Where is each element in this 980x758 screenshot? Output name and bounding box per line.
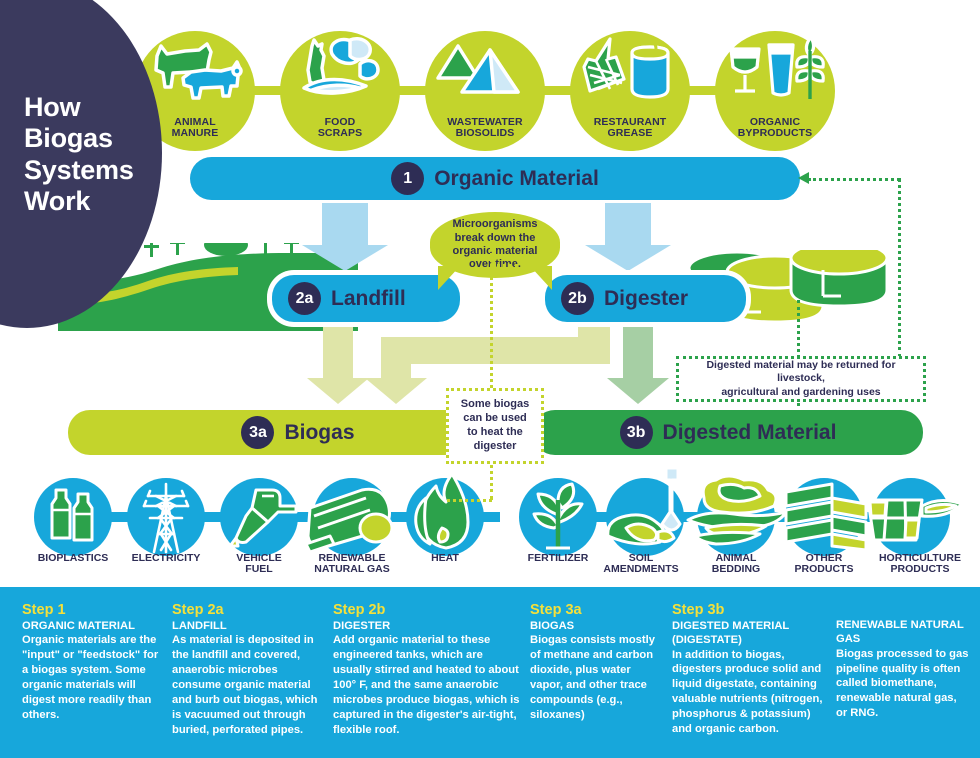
stage-number-2a: 2a [288,282,321,315]
output-label-heat: HEAT [393,553,497,564]
step-subtitle: BIOGAS [530,619,658,633]
stage-bar-digested-material[interactable]: 3b Digested Material [533,410,923,455]
return-line-horizontal-top [808,178,900,181]
step-body: Organic materials are the "input" or "fe… [22,633,162,722]
output-circle-electricity[interactable] [127,478,205,556]
return-arrow-head [798,172,809,184]
output-circle-vehicle-fuel[interactable] [220,478,298,556]
output-label-soil-amendments: SOIL AMENDMENTS [589,553,693,576]
step-body: As material is deposited in the landfill… [172,633,320,737]
output-label-renewable-natural-gas: RENEWABLE NATURAL GAS [300,553,404,576]
input-label-organic-byproducts: ORGANIC BYPRODUCTS [710,117,840,139]
output-circle-soil-amendments[interactable] [606,478,684,556]
output-label-other-products: OTHER PRODUCTS [772,553,876,576]
callout-return-digestate: Digested material may be returned for li… [676,356,926,402]
step-body: Biogas consists mostly of methane and ca… [530,633,658,722]
steps-panel: Step 1 ORGANIC MATERIAL Organic material… [0,583,980,758]
output-label-bioplastics: BIOPLASTICS [21,553,125,564]
arrow-digester-to-biogas [358,337,434,404]
step-column-3a: Step 3a BIOGAS Biogas consists mostly of… [530,603,658,723]
stage-label-digester: Digester [604,287,688,311]
step-subtitle: DIGESTED MATERIAL (DIGESTATE) [672,619,824,648]
output-label-electricity: ELECTRICITY [114,553,218,564]
arrow-organic-to-landfill [302,203,388,271]
stage-label-biogas: Biogas [284,421,354,445]
stage-number-2b: 2b [561,282,594,315]
input-label-restaurant-grease: RESTAURANT GREASE [565,117,695,139]
input-label-wastewater-biosolids: WASTEWATER BIOSOLIDS [420,117,550,139]
step-column-rng: RENEWABLE NATURAL GAS Biogas processed t… [836,618,970,721]
arrow-organic-to-digester [585,203,671,271]
stage-number-3b: 3b [620,416,653,449]
heat-line-horizontal-lower [447,499,492,502]
output-circle-renewable-natural-gas[interactable] [313,478,391,556]
step-subtitle: RENEWABLE NATURAL GAS [836,618,970,647]
step-column-2a: Step 2a LANDFILL As material is deposite… [172,603,320,738]
input-label-food-scraps: FOOD SCRAPS [275,117,405,139]
step-body: Biogas processed to gas pipeline quality… [836,647,970,721]
arrow-digester-to-digested [600,322,676,404]
stage-bar-organic-material[interactable]: 1 Organic Material [190,157,800,200]
page-title: How Biogas Systems Work [24,92,154,217]
output-label-horticulture-products: HORTICULTURE PRODUCTS [868,553,972,576]
step-heading: Step 3b [672,603,824,619]
output-label-vehicle-fuel: VEHICLE FUEL [207,553,311,576]
output-circle-horticulture-products[interactable] [872,478,950,556]
step-subtitle: DIGESTER [333,619,521,633]
stage-number-3a: 3a [241,416,274,449]
output-circle-fertilizer[interactable] [519,478,597,556]
stage-label-organic-material: Organic Material [434,167,599,191]
stage-label-landfill: Landfill [331,287,406,311]
stage-bar-digester[interactable]: 2b Digester [545,275,746,322]
output-circle-other-products[interactable] [785,478,863,556]
heat-line-vertical-upper [490,240,493,388]
step-subtitle: LANDFILL [172,619,320,633]
stage-label-digested-material: Digested Material [663,421,837,445]
step-heading: Step 3a [530,603,658,619]
heat-arrow-head [536,258,547,270]
output-circle-bioplastics[interactable] [34,478,112,556]
step-column-2b: Step 2b DIGESTER Add organic material to… [333,603,521,738]
step-body: In addition to biogas, digesters produce… [672,648,824,737]
heat-line-horizontal-to-digester [490,264,538,267]
return-line-vertical-mid [797,300,800,358]
output-circle-animal-bedding[interactable] [697,478,775,556]
callout-heat-digester: Some biogas can be used to heat the dige… [446,388,544,464]
step-column-1: Step 1 ORGANIC MATERIAL Organic material… [22,603,162,723]
step-heading: Step 1 [22,603,162,619]
stage-bar-landfill[interactable]: 2a Landfill [272,275,460,322]
return-line-vertical-right [898,178,901,358]
step-column-3b: Step 3b DIGESTED MATERIAL (DIGESTATE) In… [672,603,824,737]
step-body: Add organic material to these engineered… [333,633,521,737]
stage-number-1: 1 [391,162,424,195]
step-heading: Step 2a [172,603,320,619]
step-heading: Step 2b [333,603,521,619]
infographic-canvas: ANIMAL MANURE FOOD SCRAPS [0,0,980,758]
output-circle-heat[interactable] [406,478,484,556]
heat-line-vertical-lower [490,458,493,500]
step-subtitle: ORGANIC MATERIAL [22,619,162,633]
